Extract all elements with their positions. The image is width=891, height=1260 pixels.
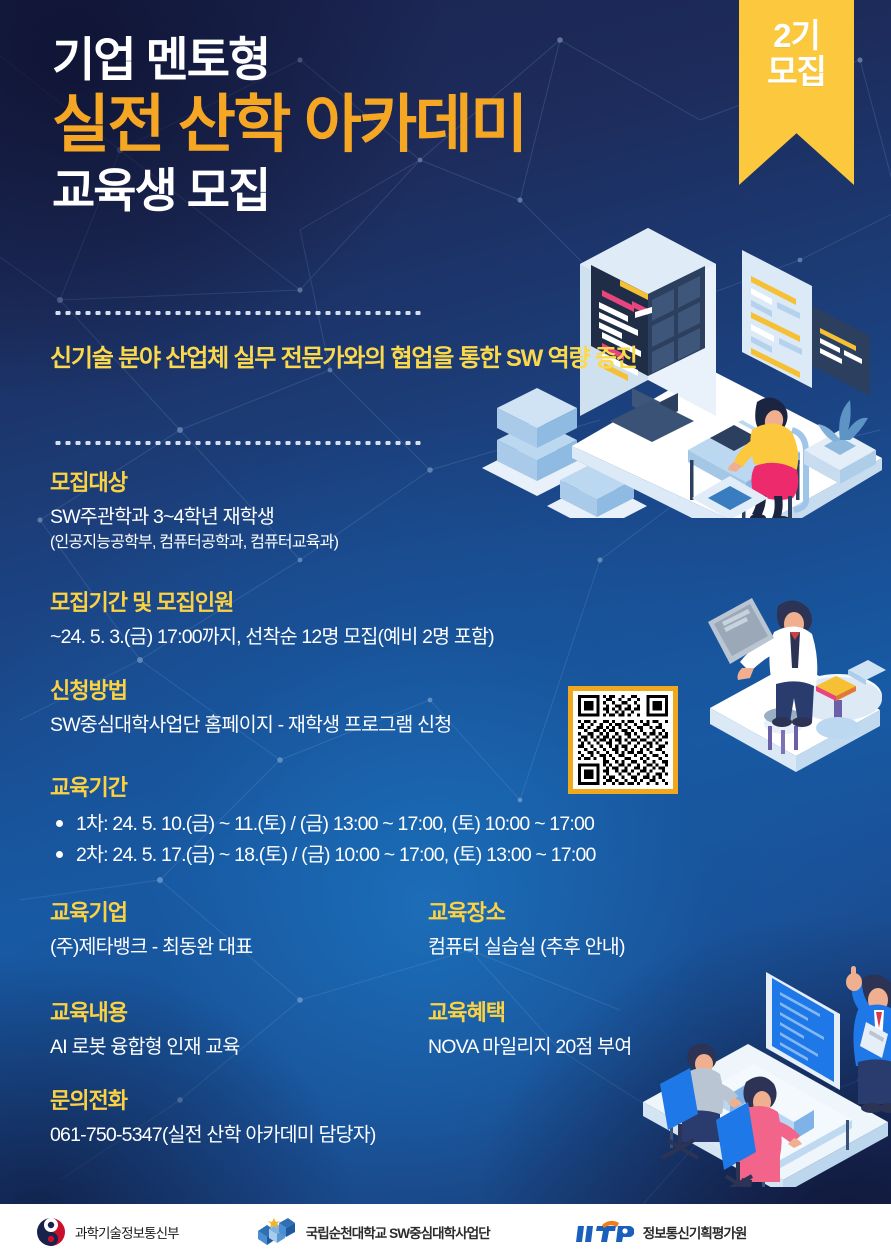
section-education-benefit: 교육혜택 NOVA 마일리지 20점 부여 — [428, 1000, 758, 1062]
education-schedule-list: 1차: 24. 5. 10.(금) ~ 11.(토) / (금) 13:00 ~… — [50, 809, 596, 869]
ribbon-line-1: 2기 — [773, 18, 820, 54]
list-item: 1차: 24. 5. 10.(금) ~ 11.(토) / (금) 13:00 ~… — [50, 809, 596, 839]
divider-dotted-top — [53, 311, 425, 315]
section-heading: 모집기간 및 모집인원 — [50, 590, 494, 616]
section-application-method: 신청방법 SW중심대학사업단 홈페이지 - 재학생 프로그램 신청 — [50, 678, 451, 740]
footer-logo-msit: 과학기술정보통신부 — [36, 1217, 179, 1247]
section-body: SW중심대학사업단 홈페이지 - 재학생 프로그램 신청 — [50, 711, 451, 739]
section-heading: 문의전화 — [50, 1088, 376, 1114]
section-heading: 교육혜택 — [428, 1000, 758, 1026]
section-education-content: 교육내용 AI 로봇 융합형 인재 교육 — [50, 1000, 380, 1062]
title-line-3: 교육생 모집 — [52, 164, 526, 218]
section-heading: 교육내용 — [50, 1000, 380, 1026]
section-body: 컴퓨터 실습실 (추후 안내) — [428, 933, 758, 961]
divider-dotted-bottom — [53, 441, 425, 445]
poster-content: 기업 멘토형 실전 산학 아카데미 교육생 모집 신기술 분야 산업체 실무 전… — [0, 0, 891, 1260]
section-heading: 교육기간 — [50, 775, 596, 801]
section-body: AI 로봇 융합형 인재 교육 — [50, 1033, 380, 1061]
qr-code-frame[interactable] — [568, 686, 678, 794]
footer-logo-sw-university: 국립순천대학교 SW중심대학사업단 — [255, 1217, 490, 1247]
list-item: 2차: 24. 5. 17.(금) ~ 18.(토) / (금) 10:00 ~… — [50, 840, 596, 870]
poster-subtitle: 신기술 분야 산업체 실무 전문가와의 협업을 통한 SW 역량 증진 — [50, 343, 637, 375]
section-heading: 교육기업 — [50, 900, 380, 926]
section-body: SW주관학과 3~4학년 재학생 — [50, 503, 338, 531]
section-body: (주)제타뱅크 - 최동완 대표 — [50, 933, 380, 961]
footer-logo-label: 국립순천대학교 SW중심대학사업단 — [306, 1222, 490, 1242]
section-body: NOVA 마일리지 20점 부여 — [428, 1033, 758, 1061]
section-recruitment-period: 모집기간 및 모집인원 ~24. 5. 3.(금) 17:00까지, 선착순 1… — [50, 590, 494, 652]
iitp-logo-icon — [576, 1218, 634, 1246]
section-contact-phone: 문의전화 061-750-5347(실전 산학 아카데미 담당자) — [50, 1088, 376, 1150]
section-recruitment-target: 모집대상 SW주관학과 3~4학년 재학생 (인공지능공학부, 컴퓨터공학과, … — [50, 470, 338, 554]
section-education-period: 교육기간 1차: 24. 5. 10.(금) ~ 11.(토) / (금) 13… — [50, 775, 596, 870]
ribbon-line-2: 모집 — [767, 54, 826, 90]
taegeuk-logo-icon — [36, 1217, 66, 1247]
title-line-1: 기업 멘토형 — [52, 34, 526, 87]
section-note: (인공지능공학부, 컴퓨터공학과, 컴퓨터교육과) — [50, 532, 338, 554]
title-line-2: 실전 산학 아카데미 — [52, 88, 526, 162]
section-heading: 신청방법 — [50, 678, 451, 704]
poster-title: 기업 멘토형 실전 산학 아카데미 교육생 모집 — [52, 34, 526, 218]
footer-logo-label: 정보통신기획평가원 — [643, 1222, 747, 1242]
footer-logo-label: 과학기술정보통신부 — [75, 1222, 179, 1242]
section-education-place: 교육장소 컴퓨터 실습실 (추후 안내) — [428, 900, 758, 962]
footer-logo-iitp: 정보통신기획평가원 — [576, 1218, 747, 1246]
poster: 2기 모집 — [0, 0, 891, 1260]
section-body: 061-750-5347(실전 산학 아카데미 담당자) — [50, 1121, 376, 1149]
sw-university-logo-icon — [255, 1217, 297, 1247]
footer-logo-bar: 과학기술정보통신부 국립순천대학교 SW중심대학사업단 — [0, 1204, 891, 1260]
section-education-company: 교육기업 (주)제타뱅크 - 최동완 대표 — [50, 900, 380, 962]
section-body: ~24. 5. 3.(금) 17:00까지, 선착순 12명 모집(예비 2명 … — [50, 623, 494, 651]
section-heading: 교육장소 — [428, 900, 758, 926]
section-heading: 모집대상 — [50, 470, 338, 496]
qr-code-icon[interactable] — [573, 691, 673, 789]
